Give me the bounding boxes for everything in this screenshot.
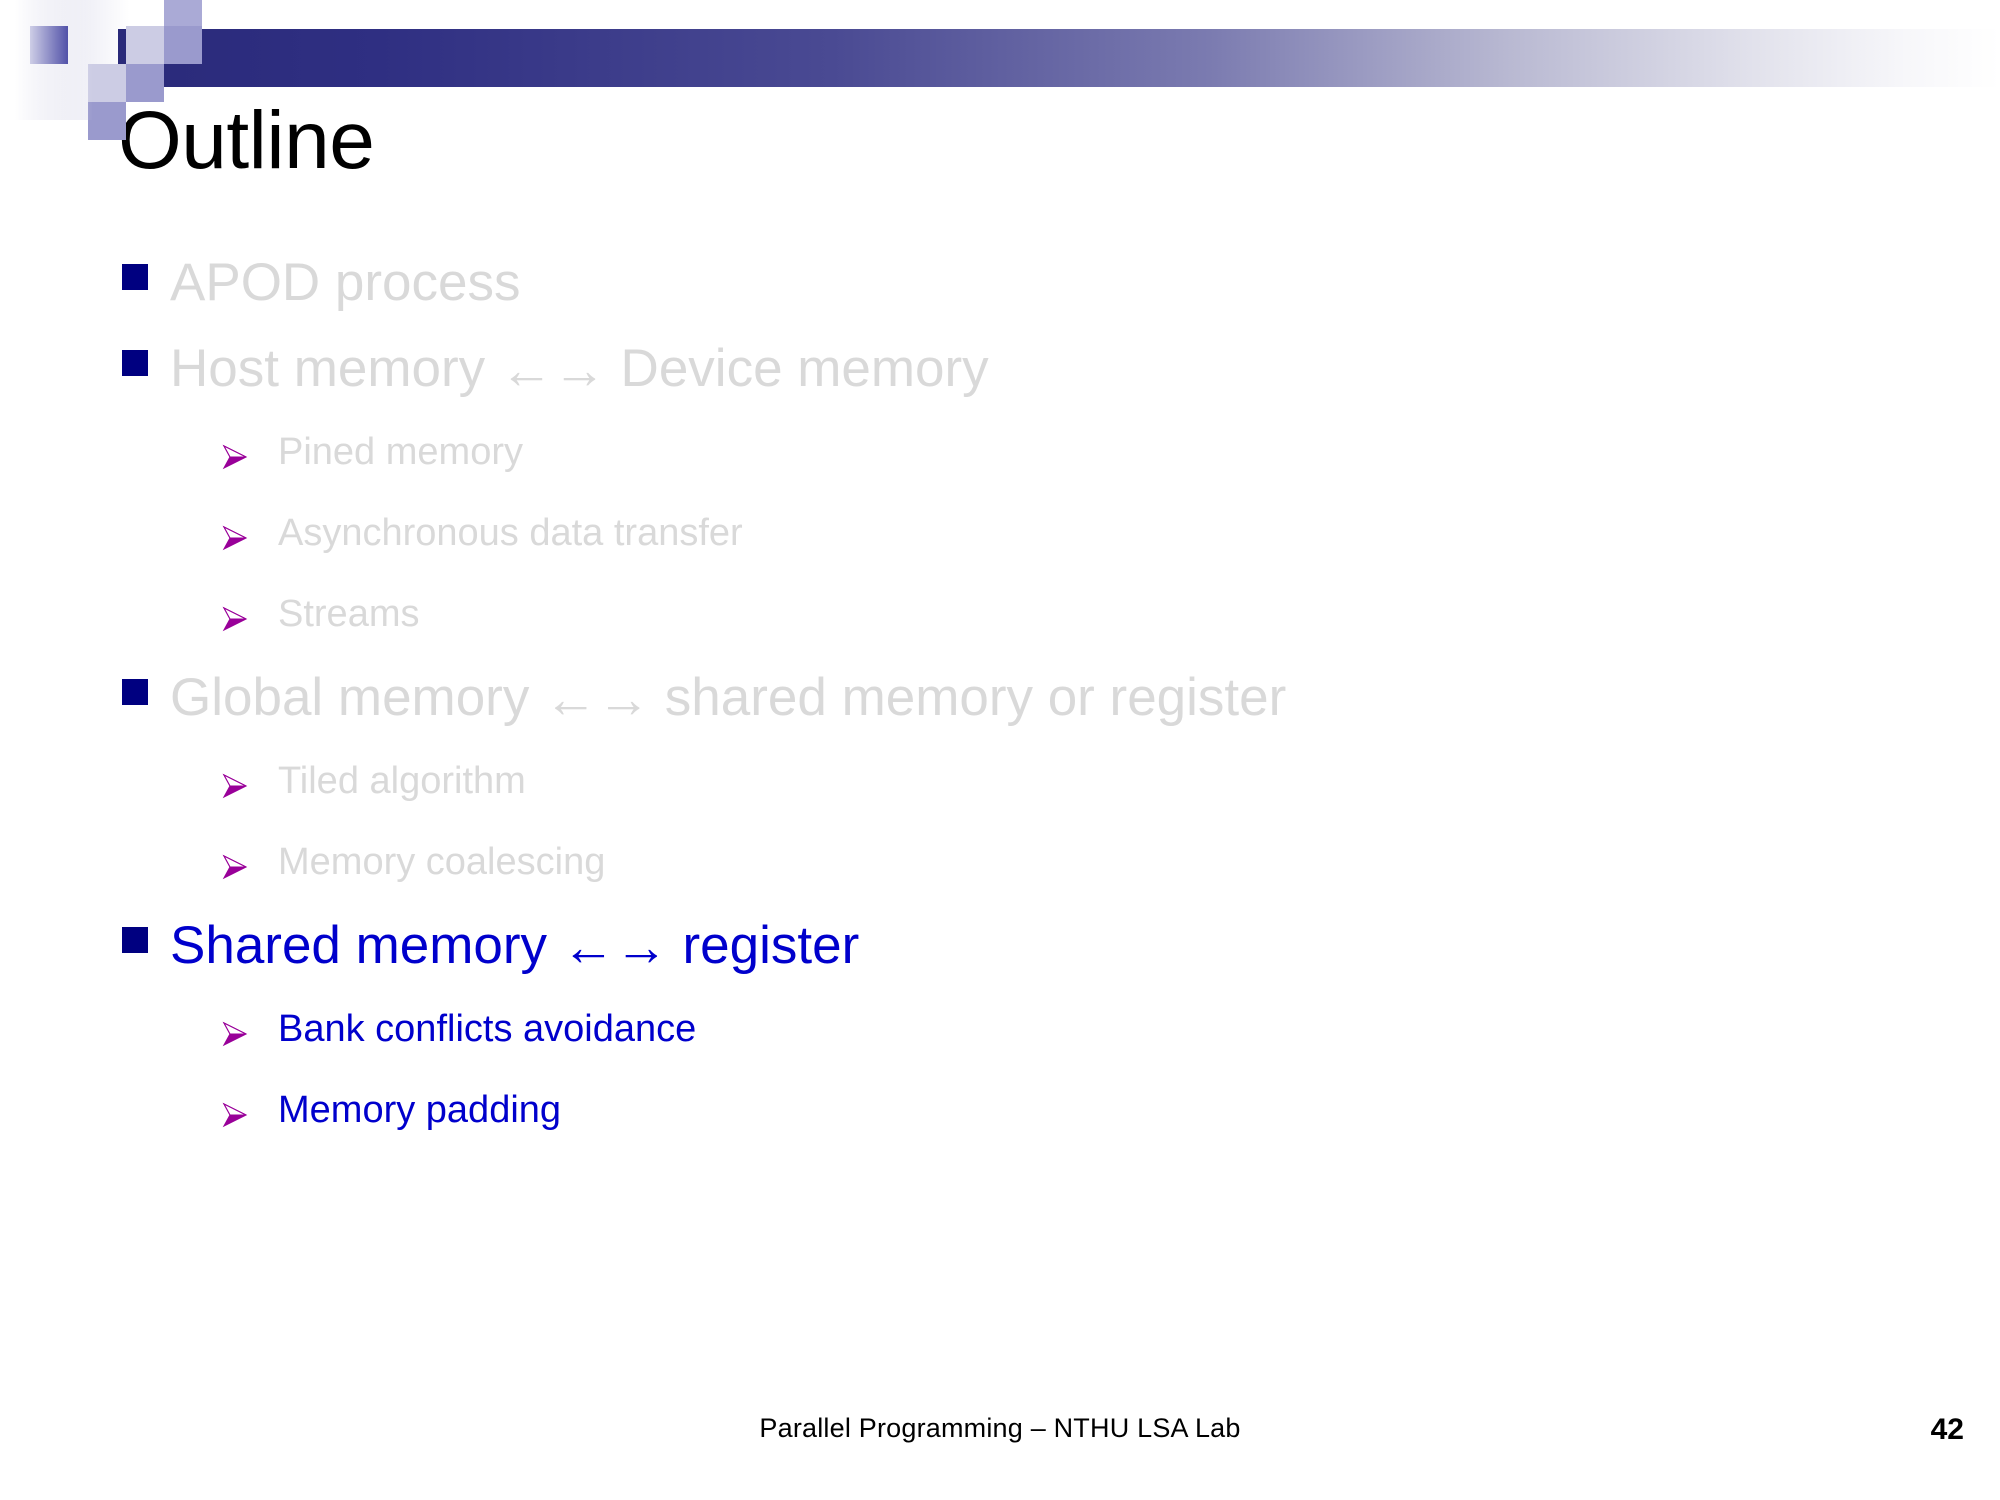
- outline-item-text: Asynchronous data transfer: [278, 493, 743, 574]
- outline-text-segment: register: [668, 916, 859, 975]
- outline-item-level2: Memory padding: [0, 1070, 2000, 1151]
- outline-list: APOD processHost memory ←→ Device memory…: [0, 240, 2000, 1151]
- outline-item-level1: Shared memory ←→ register: [0, 903, 2000, 989]
- slide-footer: Parallel Programming – NTHU LSA Lab 42: [0, 1413, 2000, 1463]
- outline-text-segment: Bank conflicts avoidance: [278, 1008, 696, 1050]
- outline-item-level2: Memory coalescing: [0, 822, 2000, 903]
- outline-text-segment: Memory padding: [278, 1089, 561, 1131]
- dark-navy-square: [30, 26, 68, 64]
- square-bullet-glyph: [122, 350, 148, 376]
- bidirectional-arrow-icon: ←→: [544, 657, 650, 743]
- arrowhead-bullet-icon: [218, 1017, 278, 1051]
- outline-item-level2: Asynchronous data transfer: [0, 493, 2000, 574]
- outline-text-segment: Tiled algorithm: [278, 760, 526, 802]
- page-title: Outline: [118, 98, 374, 184]
- square-bullet-icon: [122, 264, 170, 295]
- arrowhead-bullet-icon: [218, 769, 278, 803]
- slide-canvas: Outline APOD processHost memory ←→ Devic…: [0, 0, 2000, 1500]
- outline-item-level2: Streams: [0, 574, 2000, 655]
- outline-text-segment: Memory coalescing: [278, 841, 605, 883]
- outline-item-text: Tiled algorithm: [278, 741, 526, 822]
- outline-item-level2: Tiled algorithm: [0, 741, 2000, 822]
- pale-lavender-square-2: [126, 26, 164, 64]
- outline-item-text: Memory padding: [278, 1070, 561, 1151]
- square-bullet-icon: [122, 350, 170, 381]
- mid-lavender-square-2: [126, 64, 164, 102]
- outline-item-text: Bank conflicts avoidance: [278, 989, 696, 1070]
- outline-item-text: Shared memory ←→ register: [170, 903, 859, 989]
- mid-lavender-square-4: [164, 26, 202, 64]
- outline-text-segment: Device memory: [606, 339, 989, 398]
- pale-lavender-square-1: [88, 64, 126, 102]
- outline-item-text: Memory coalescing: [278, 822, 605, 903]
- mid-lavender-square-1: [88, 102, 126, 140]
- outline-text-segment: Host memory: [170, 339, 500, 398]
- outline-item-text: APOD process: [170, 240, 521, 326]
- outline-item-level2: Bank conflicts avoidance: [0, 989, 2000, 1070]
- footer-label: Parallel Programming – NTHU LSA Lab: [0, 1413, 2000, 1444]
- outline-item-text: Host memory ←→ Device memory: [170, 326, 989, 412]
- arrowhead-bullet-icon: [218, 850, 278, 884]
- arrowhead-bullet-icon: [218, 521, 278, 555]
- outline-text-segment: Global memory: [170, 668, 544, 727]
- bidirectional-arrow-icon: ←→: [500, 328, 606, 414]
- page-number: 42: [1931, 1413, 1964, 1447]
- outline-item-level1: APOD process: [0, 240, 2000, 326]
- square-bullet-glyph: [122, 927, 148, 953]
- square-bullet-icon: [122, 679, 170, 710]
- outline-text-segment: shared memory or register: [650, 668, 1286, 727]
- header-gradient-bar: [118, 29, 2000, 87]
- arrowhead-bullet-icon: [218, 602, 278, 636]
- outline-item-text: Pined memory: [278, 412, 523, 493]
- outline-text-segment: Shared memory: [170, 916, 562, 975]
- bidirectional-arrow-icon: ←→: [562, 905, 668, 991]
- square-bullet-glyph: [122, 679, 148, 705]
- square-bullet-icon: [122, 927, 170, 958]
- outline-text-segment: Asynchronous data transfer: [278, 512, 743, 554]
- outline-text-segment: Pined memory: [278, 431, 523, 473]
- outline-item-level1: Host memory ←→ Device memory: [0, 326, 2000, 412]
- outline-text-segment: APOD process: [170, 253, 521, 312]
- outline-item-text: Streams: [278, 574, 419, 655]
- outline-item-level1: Global memory ←→ shared memory or regist…: [0, 655, 2000, 741]
- arrowhead-bullet-icon: [218, 440, 278, 474]
- arrowhead-bullet-icon: [218, 1098, 278, 1132]
- square-bullet-glyph: [122, 264, 148, 290]
- outline-item-level2: Pined memory: [0, 412, 2000, 493]
- outline-text-segment: Streams: [278, 593, 419, 635]
- outline-item-text: Global memory ←→ shared memory or regist…: [170, 655, 1286, 741]
